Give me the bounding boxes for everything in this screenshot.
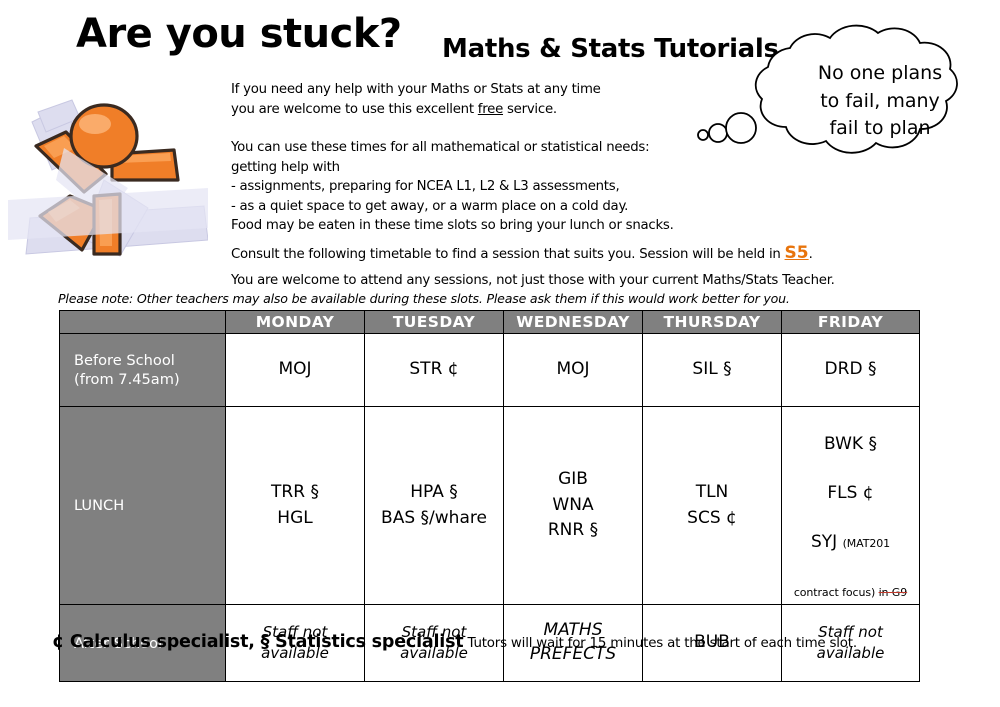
slot-lunch-friday: BWK § FLS ¢ SYJ (MAT201 contract focus) … — [782, 407, 920, 605]
please-note-text: Please note: Other teachers may also be … — [58, 291, 790, 306]
friday-lunch-line2: FLS ¢ — [827, 483, 873, 503]
intro-paragraph-3: Consult the following timetable to find … — [231, 244, 851, 265]
column-header-thursday: THURSDAY — [643, 311, 782, 334]
row-header-before-school: Before School (from 7.45am) — [60, 334, 226, 407]
table-row-lunch: LUNCH TRR § HGL HPA § BAS §/whare GIB WN… — [60, 407, 920, 605]
consult-text-before: Consult the following timetable to find … — [231, 247, 785, 262]
table-row-before-school: Before School (from 7.45am) MOJ STR ¢ MO… — [60, 334, 920, 407]
intro-paragraph-1: If you need any help with your Maths or … — [231, 80, 701, 119]
table-corner-cell — [60, 311, 226, 334]
slot-before-wednesday: MOJ — [504, 334, 643, 407]
slot-before-thursday: SIL § — [643, 334, 782, 407]
intro-p1-line1: If you need any help with your Maths or … — [231, 82, 601, 97]
legend-specialists: ¢ Calculus specialist, § Statistics spec… — [52, 632, 463, 652]
thought-bubble-text: No one plans to fail, many fail to plan — [790, 60, 970, 143]
slot-before-monday: MOJ — [226, 334, 365, 407]
intro-p1-line2-after: service. — [503, 102, 557, 117]
friday-lunch-note-a: (MAT201 — [843, 537, 890, 550]
consult-text-after: . — [809, 247, 813, 262]
slot-lunch-monday: TRR § HGL — [226, 407, 365, 605]
column-header-friday: FRIDAY — [782, 311, 920, 334]
friday-lunch-line1: BWK § — [824, 434, 877, 454]
friday-lunch-note-b: contract focus) — [794, 586, 879, 599]
slot-lunch-tuesday: HPA § BAS §/whare — [365, 407, 504, 605]
friday-lunch-room-struck: in G9 — [879, 586, 908, 599]
intro-paragraph-4: You are welcome to attend any sessions, … — [231, 271, 931, 291]
room-code-badge: S5 — [785, 243, 809, 263]
legend-wait-note: Tutors will wait for 15 minutes at the s… — [463, 636, 856, 651]
intro-p1-line2-before: you are welcome to use this excellent — [231, 102, 478, 117]
slot-lunch-thursday: TLN SCS ¢ — [643, 407, 782, 605]
column-header-tuesday: TUESDAY — [365, 311, 504, 334]
slot-lunch-wednesday: GIB WNA RNR § — [504, 407, 643, 605]
column-header-wednesday: WEDNESDAY — [504, 311, 643, 334]
orange-person-stuck-icon — [8, 88, 208, 263]
legend-footer: ¢ Calculus specialist, § Statistics spec… — [52, 632, 857, 652]
column-header-monday: MONDAY — [226, 311, 365, 334]
slot-before-friday: DRD § — [782, 334, 920, 407]
table-header-row: MONDAY TUESDAY WEDNESDAY THURSDAY FRIDAY — [60, 311, 920, 334]
free-emphasis: free — [478, 102, 503, 117]
intro-paragraph-2: You can use these times for all mathemat… — [231, 138, 711, 236]
friday-lunch-line3-main: SYJ — [811, 532, 843, 552]
row-header-lunch: LUNCH — [60, 407, 226, 605]
tutorials-timetable: MONDAY TUESDAY WEDNESDAY THURSDAY FRIDAY… — [59, 310, 920, 682]
slot-before-tuesday: STR ¢ — [365, 334, 504, 407]
page-title: Are you stuck? — [76, 14, 402, 54]
